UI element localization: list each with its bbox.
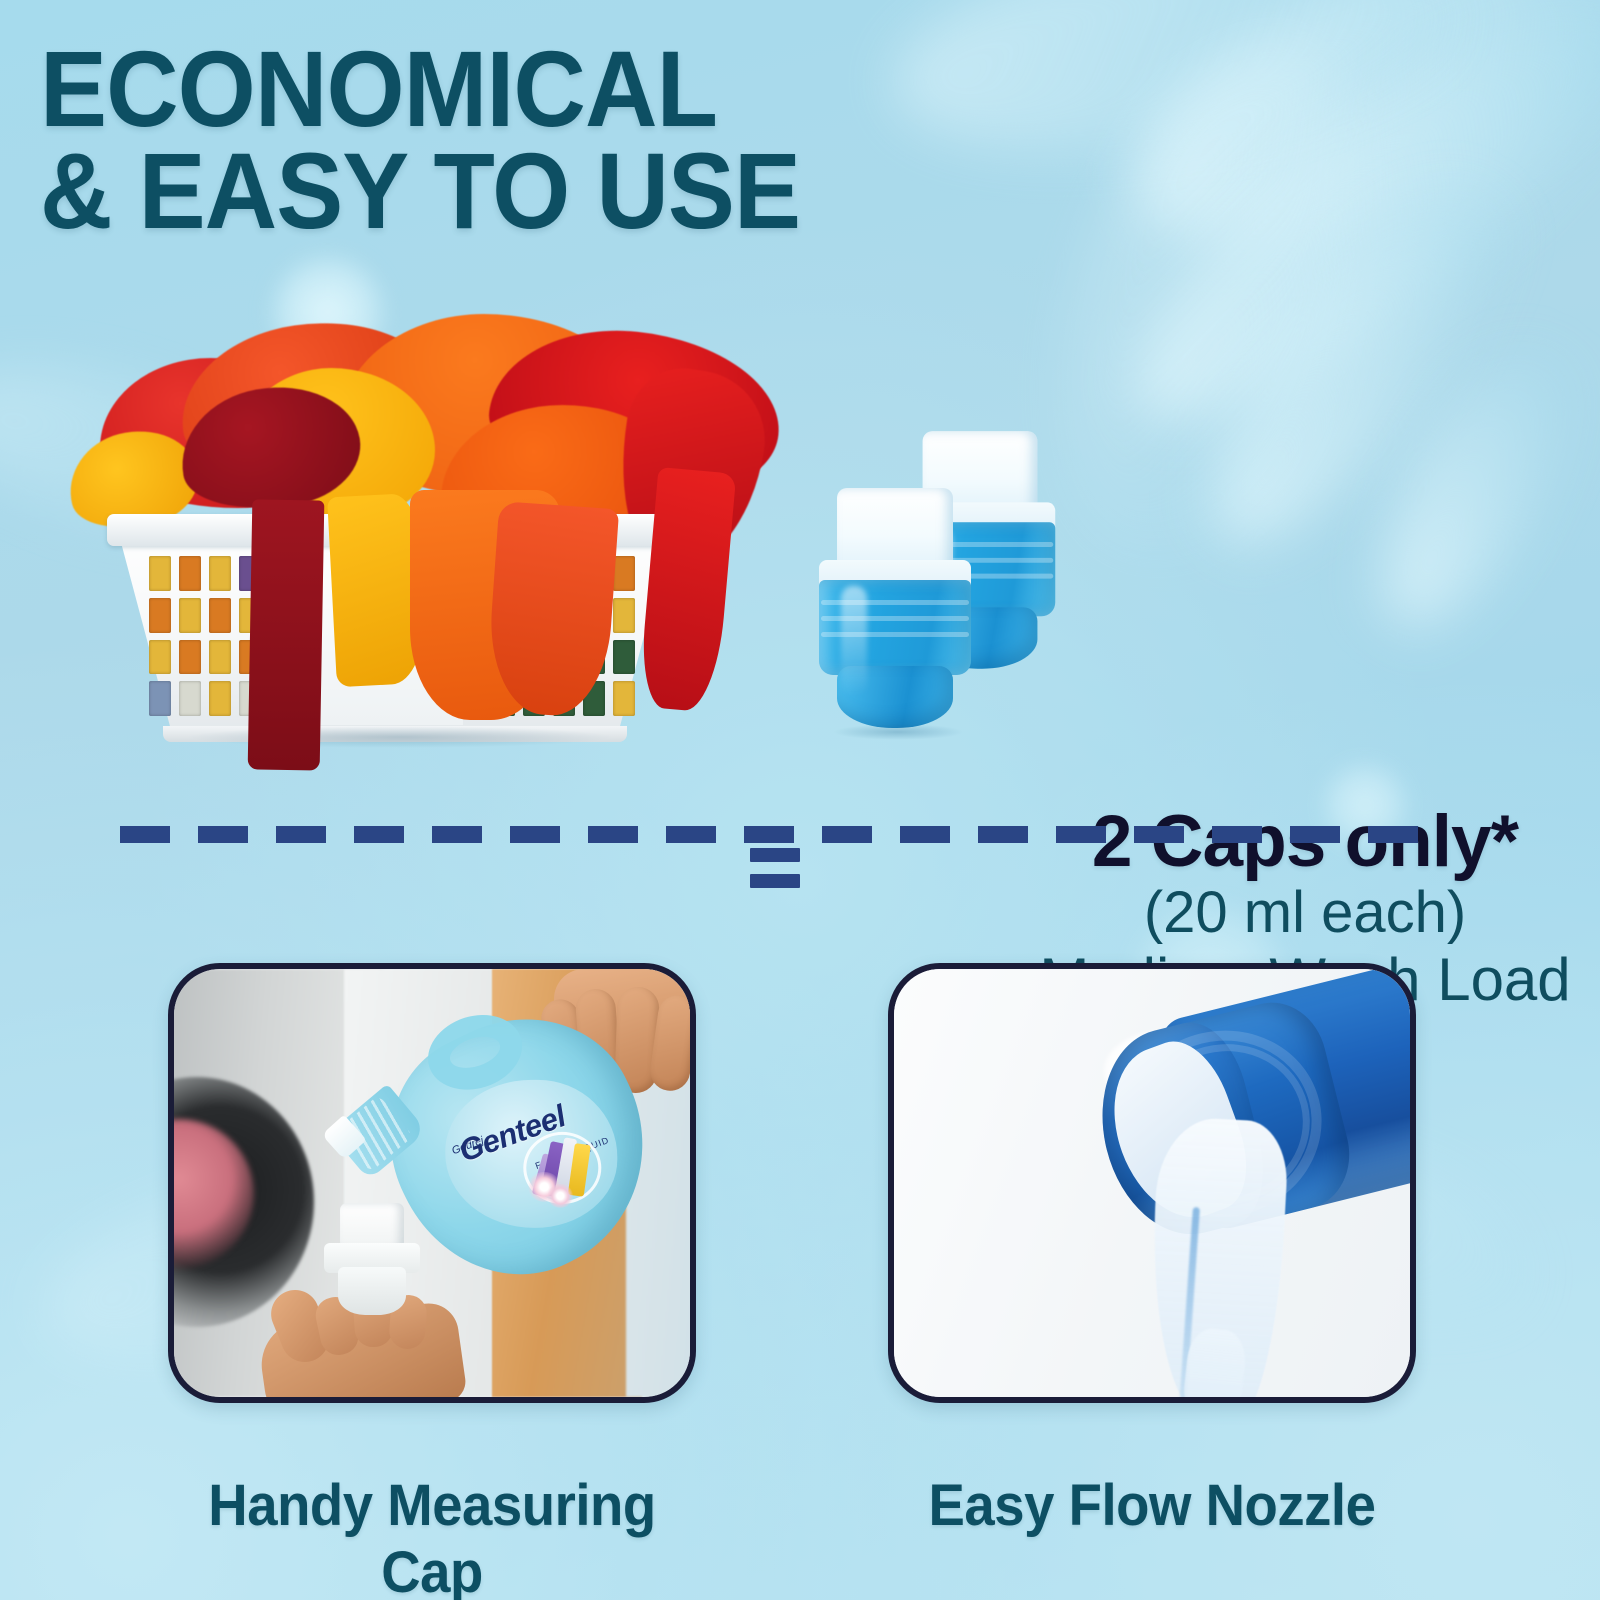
measuring-cap [815, 488, 975, 713]
feature-photo-handy-measuring-cap: Godrej Genteel FABRIC LIQUID Gentle On C… [168, 963, 696, 1403]
dashed-divider [120, 826, 1460, 843]
page-title: ECONOMICAL & EASY TO USE [40, 38, 800, 241]
cloth-sleeve-dark-red [248, 499, 325, 770]
bottle-label: Godrej Genteel FABRIC LIQUID Gentle On C… [445, 1080, 617, 1228]
dosage-subtext: (20 ml each) [1020, 881, 1590, 945]
clothes-inside-drum [168, 1237, 170, 1263]
label-artwork [523, 1132, 601, 1204]
flower-icon [547, 1184, 573, 1208]
cap-shadow [833, 724, 963, 740]
hand-holding-cap [262, 1257, 482, 1403]
equals-icon [750, 848, 800, 892]
measuring-cap-white [324, 1203, 420, 1315]
feature-caption-easy-flow-nozzle: Easy Flow Nozzle [904, 1472, 1400, 1539]
hero-equation-row: 2 Caps only* (20 ml each) Medium Wash Lo… [0, 300, 1600, 730]
feature-caption-handy-measuring-cap: Handy Measuring Cap [184, 1472, 680, 1600]
measuring-caps-illustration [805, 430, 1095, 710]
cap-highlight [841, 586, 867, 696]
feature-photo-easy-flow-nozzle [888, 963, 1416, 1403]
cap-bottom [338, 1267, 406, 1315]
laundry-basket-illustration [60, 310, 740, 730]
